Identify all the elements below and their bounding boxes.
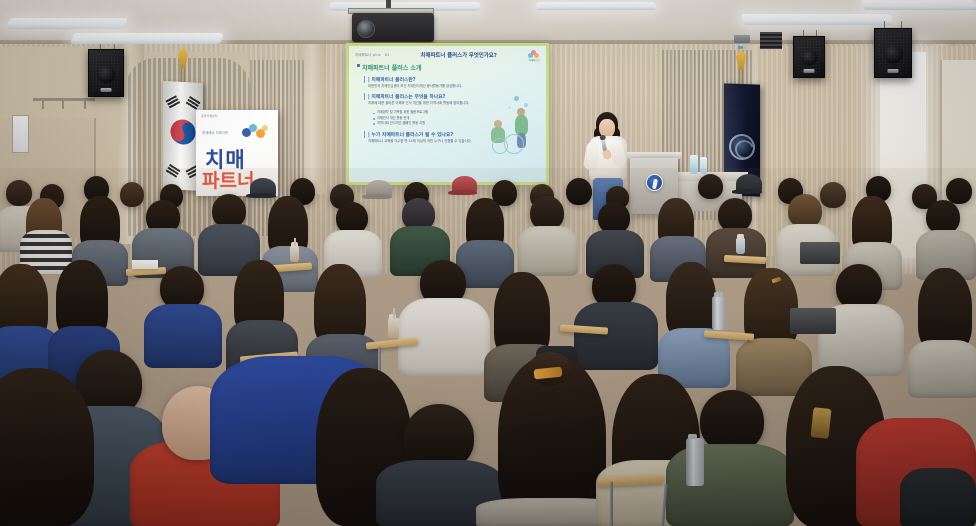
slide-header: 치매파트너 plus 01 치매파트너 플러스가 무엇인가요? 치매파트너 [355,49,540,60]
recessed-ceiling-light [740,14,893,25]
wall-speaker-left [88,49,124,97]
banner-mark-icon [242,124,268,142]
wall-rail-hook [84,101,86,109]
slide-logo-caption: 치매파트너 [528,58,540,62]
lecture-hall-photo: 치매파트너 plus 01 치매파트너 플러스가 무엇인가요? 치매파트너 치매… [0,0,976,526]
slide-illustration [484,94,540,152]
slide-question-1: | 치매파트너 플러스란? [364,76,540,83]
slide-content: 치매파트너 plus 01 치매파트너 플러스가 무엇인가요? 치매파트너 치매… [349,46,546,182]
speaker-woofer [884,45,903,64]
slide-logo-icon: 치매파트너 [528,50,540,60]
projector-status-led [738,46,743,49]
speaker-badge [804,69,815,73]
speaker-badge [101,88,112,92]
projector-vent [760,32,782,49]
speaker-woofer [97,65,115,83]
projector-lens [357,20,375,38]
wall-control-panel[interactable] [12,115,29,153]
recessed-ceiling-light [6,18,128,29]
floor-shading [0,168,976,526]
slide-paragraph-3: 치매파트너 교육을 이수한 만 14세 이상의 국민 누구나 신청할 수 있습니… [368,139,498,144]
projector-label-plate [734,35,750,43]
banner-org-logo: 중앙치매센터 [201,114,218,118]
slide-paragraph-1: 대한민국 치매안심센터 보건 치매인식개선 봉사활동가를 양성합니다. [368,84,498,89]
banner-subtitle: 함께해요 치매극복 [202,130,228,135]
slide-paragraph-2: 치매에 대한 올바른 이해와 인식 개선을 위한 지역사회 활동에 참여합니다. [368,101,498,106]
slide-brand-mark: 치매파트너 plus [355,52,381,57]
recessed-ceiling-light [536,2,657,10]
slide-title: 치매파트너 플러스가 무엇인가요? [393,51,524,59]
wall-speaker-right-1 [793,36,825,78]
projection-screen: 치매파트너 plus 01 치매파트너 플러스가 무엇인가요? 치매파트너 치매… [346,43,549,185]
wall-rail-hook [42,101,44,109]
speaker-badge [888,69,899,73]
audience-area [0,168,976,526]
slide-section-heading: 치매파트너 플러스 소개 [362,63,540,72]
recessed-ceiling-light [860,0,976,10]
wall-speaker-right-2 [874,28,912,78]
speaker-woofer [801,50,817,66]
wall-rail-hook [62,101,64,109]
recessed-ceiling-light [70,33,224,44]
slide-page-number: 01 [385,53,390,57]
